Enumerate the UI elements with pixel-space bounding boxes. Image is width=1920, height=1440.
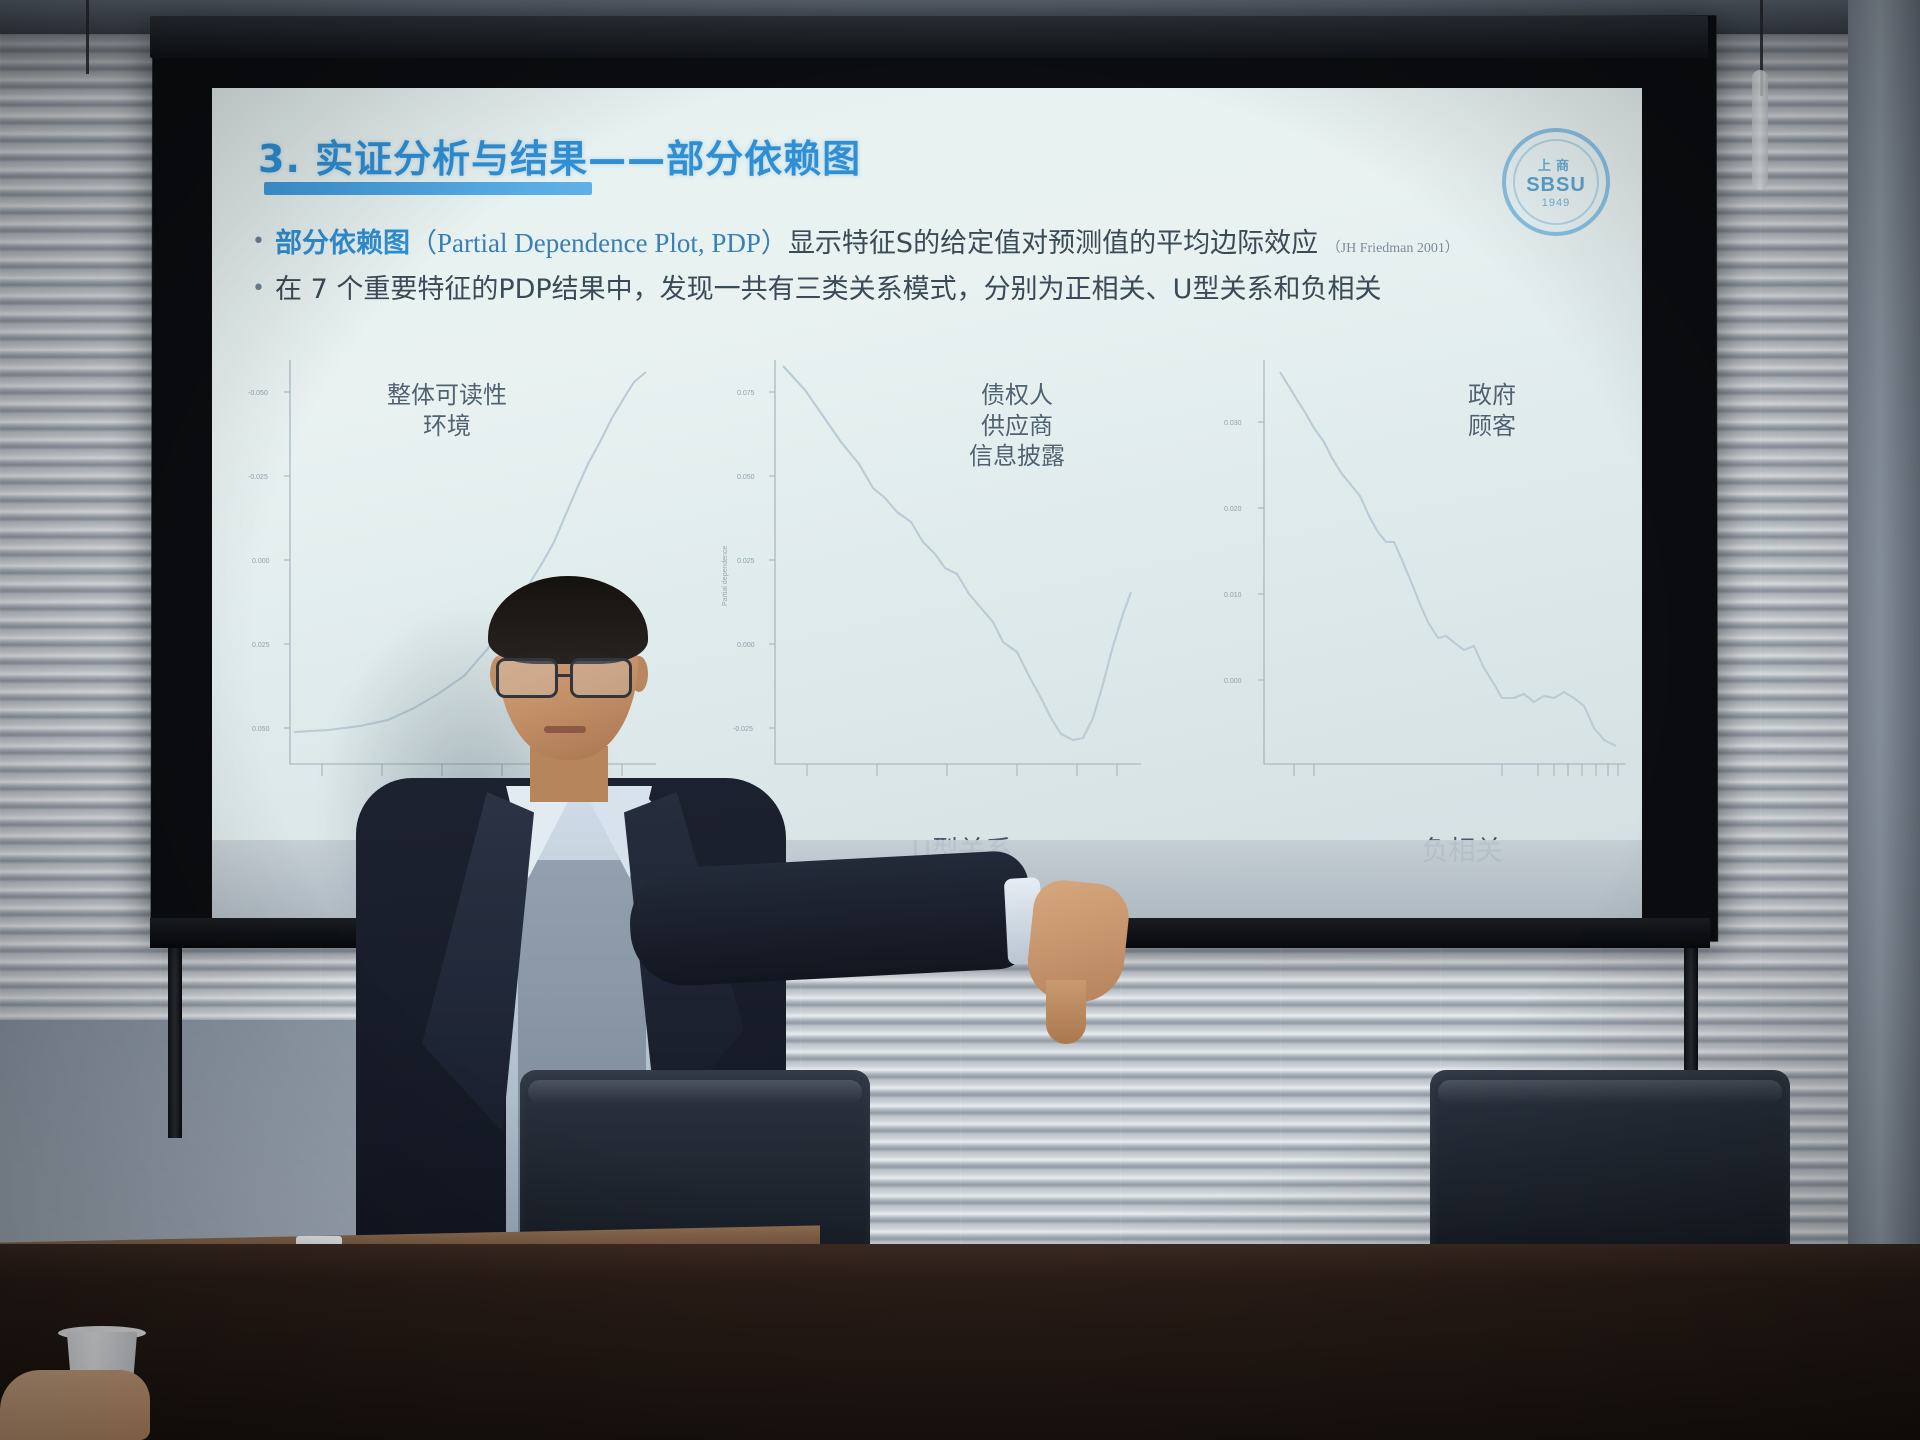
pdp-chart-negative: 0.030 0.020 0.010 0.000 政府 顾客 负相关 [1202,346,1632,816]
bullet-item-1: • 部分依赖图（Partial Dependence Plot, PDP）显示特… [252,224,1602,263]
pdp-chart-negative-note: 政府 顾客 [1312,380,1642,441]
presenter-pointing-finger [1046,980,1086,1044]
note-line: 政府 [1312,380,1642,411]
right-wall [1848,0,1920,1440]
svg-text:-0.025: -0.025 [248,474,268,481]
bullet-list: • 部分依赖图（Partial Dependence Plot, PDP）显示特… [252,224,1602,318]
photo-scene: 3. 实证分析与结果——部分依赖图 上商 SBSU 1949 • 部分依赖图（P… [0,0,1920,1440]
pdp-chart-positive-note: 整体可读性 环境 [232,380,662,441]
bullet-1-rest: 显示特征S的给定值对预测值的平均边际效应 [788,228,1318,259]
svg-text:0.025: 0.025 [252,642,270,649]
glasses-bridge-icon [558,674,572,677]
blind-cord-icon [86,0,89,74]
logo-year-text: 1949 [1542,197,1570,209]
pdp-chart-ushape-note: 债权人 供应商 信息披露 [827,380,1207,472]
bullet-item-2: • 在 7 个重要特征的PDP结果中，发现一共有三类关系模式，分别为正相关、U型… [252,271,1602,309]
svg-text:0.020: 0.020 [1224,506,1242,513]
screen-leg-left [168,928,182,1138]
chair-highlight [528,1080,862,1104]
note-line: 整体可读性 [232,380,662,411]
logo-chinese-text: 上商 [1538,155,1574,174]
blind-wand-icon [1752,70,1768,190]
svg-text:0.050: 0.050 [252,726,270,733]
bullet-1-citation: （JH Friedman 2001） [1327,241,1459,256]
svg-text:0.050: 0.050 [737,474,755,481]
university-logo: 上商 SBSU 1949 [1502,128,1610,236]
note-line: 顾客 [1312,411,1642,442]
presenter-pointing-arm [627,850,1033,989]
chair-highlight [1438,1080,1782,1104]
logo-abbrev-text: SBSU [1526,175,1586,195]
svg-text:0.075: 0.075 [737,390,755,397]
bullet-1-highlight: 部分依赖图 [275,228,410,259]
bullet-1-content: 部分依赖图（Partial Dependence Plot, PDP）显示特征S… [275,224,1459,263]
glasses-lens-right-icon [570,658,632,698]
title-underline [264,182,592,195]
bullet-2-text: 在 7 个重要特征的PDP结果中，发现一共有三类关系模式，分别为正相关、U型关系… [275,271,1381,309]
svg-text:0.000: 0.000 [1224,678,1242,685]
note-line: 供应商 [827,411,1207,442]
svg-text:0.030: 0.030 [1224,420,1242,427]
note-line: 信息披露 [827,441,1207,472]
svg-text:0.010: 0.010 [1224,592,1242,599]
foreground-desk [0,1244,1920,1440]
note-line: 环境 [232,411,662,442]
presenter-mouth [544,726,586,733]
svg-text:0.000: 0.000 [252,558,270,565]
audience-hand [0,1370,150,1440]
bullet-marker: • [252,224,265,259]
screen-top-bar [150,16,1708,58]
glasses-lens-left-icon [496,658,558,698]
page-title: 3. 实证分析与结果——部分依赖图 [258,128,861,183]
bullet-1-english: （Partial Dependence Plot, PDP） [410,228,788,258]
bullet-marker: • [252,271,265,306]
note-line: 债权人 [827,380,1207,411]
